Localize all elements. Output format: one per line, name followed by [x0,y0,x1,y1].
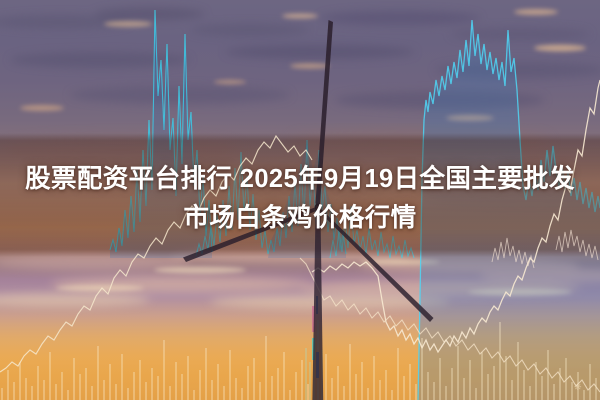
banner-image: 股票配资平台排行 2025年9月19日全国主要批发市场白条鸡价格行情 ❋ [0,0,600,400]
watermark-glyph: ❋ [574,382,582,393]
page-title: 股票配资平台排行 2025年9月19日全国主要批发市场白条鸡价格行情 [0,160,600,238]
